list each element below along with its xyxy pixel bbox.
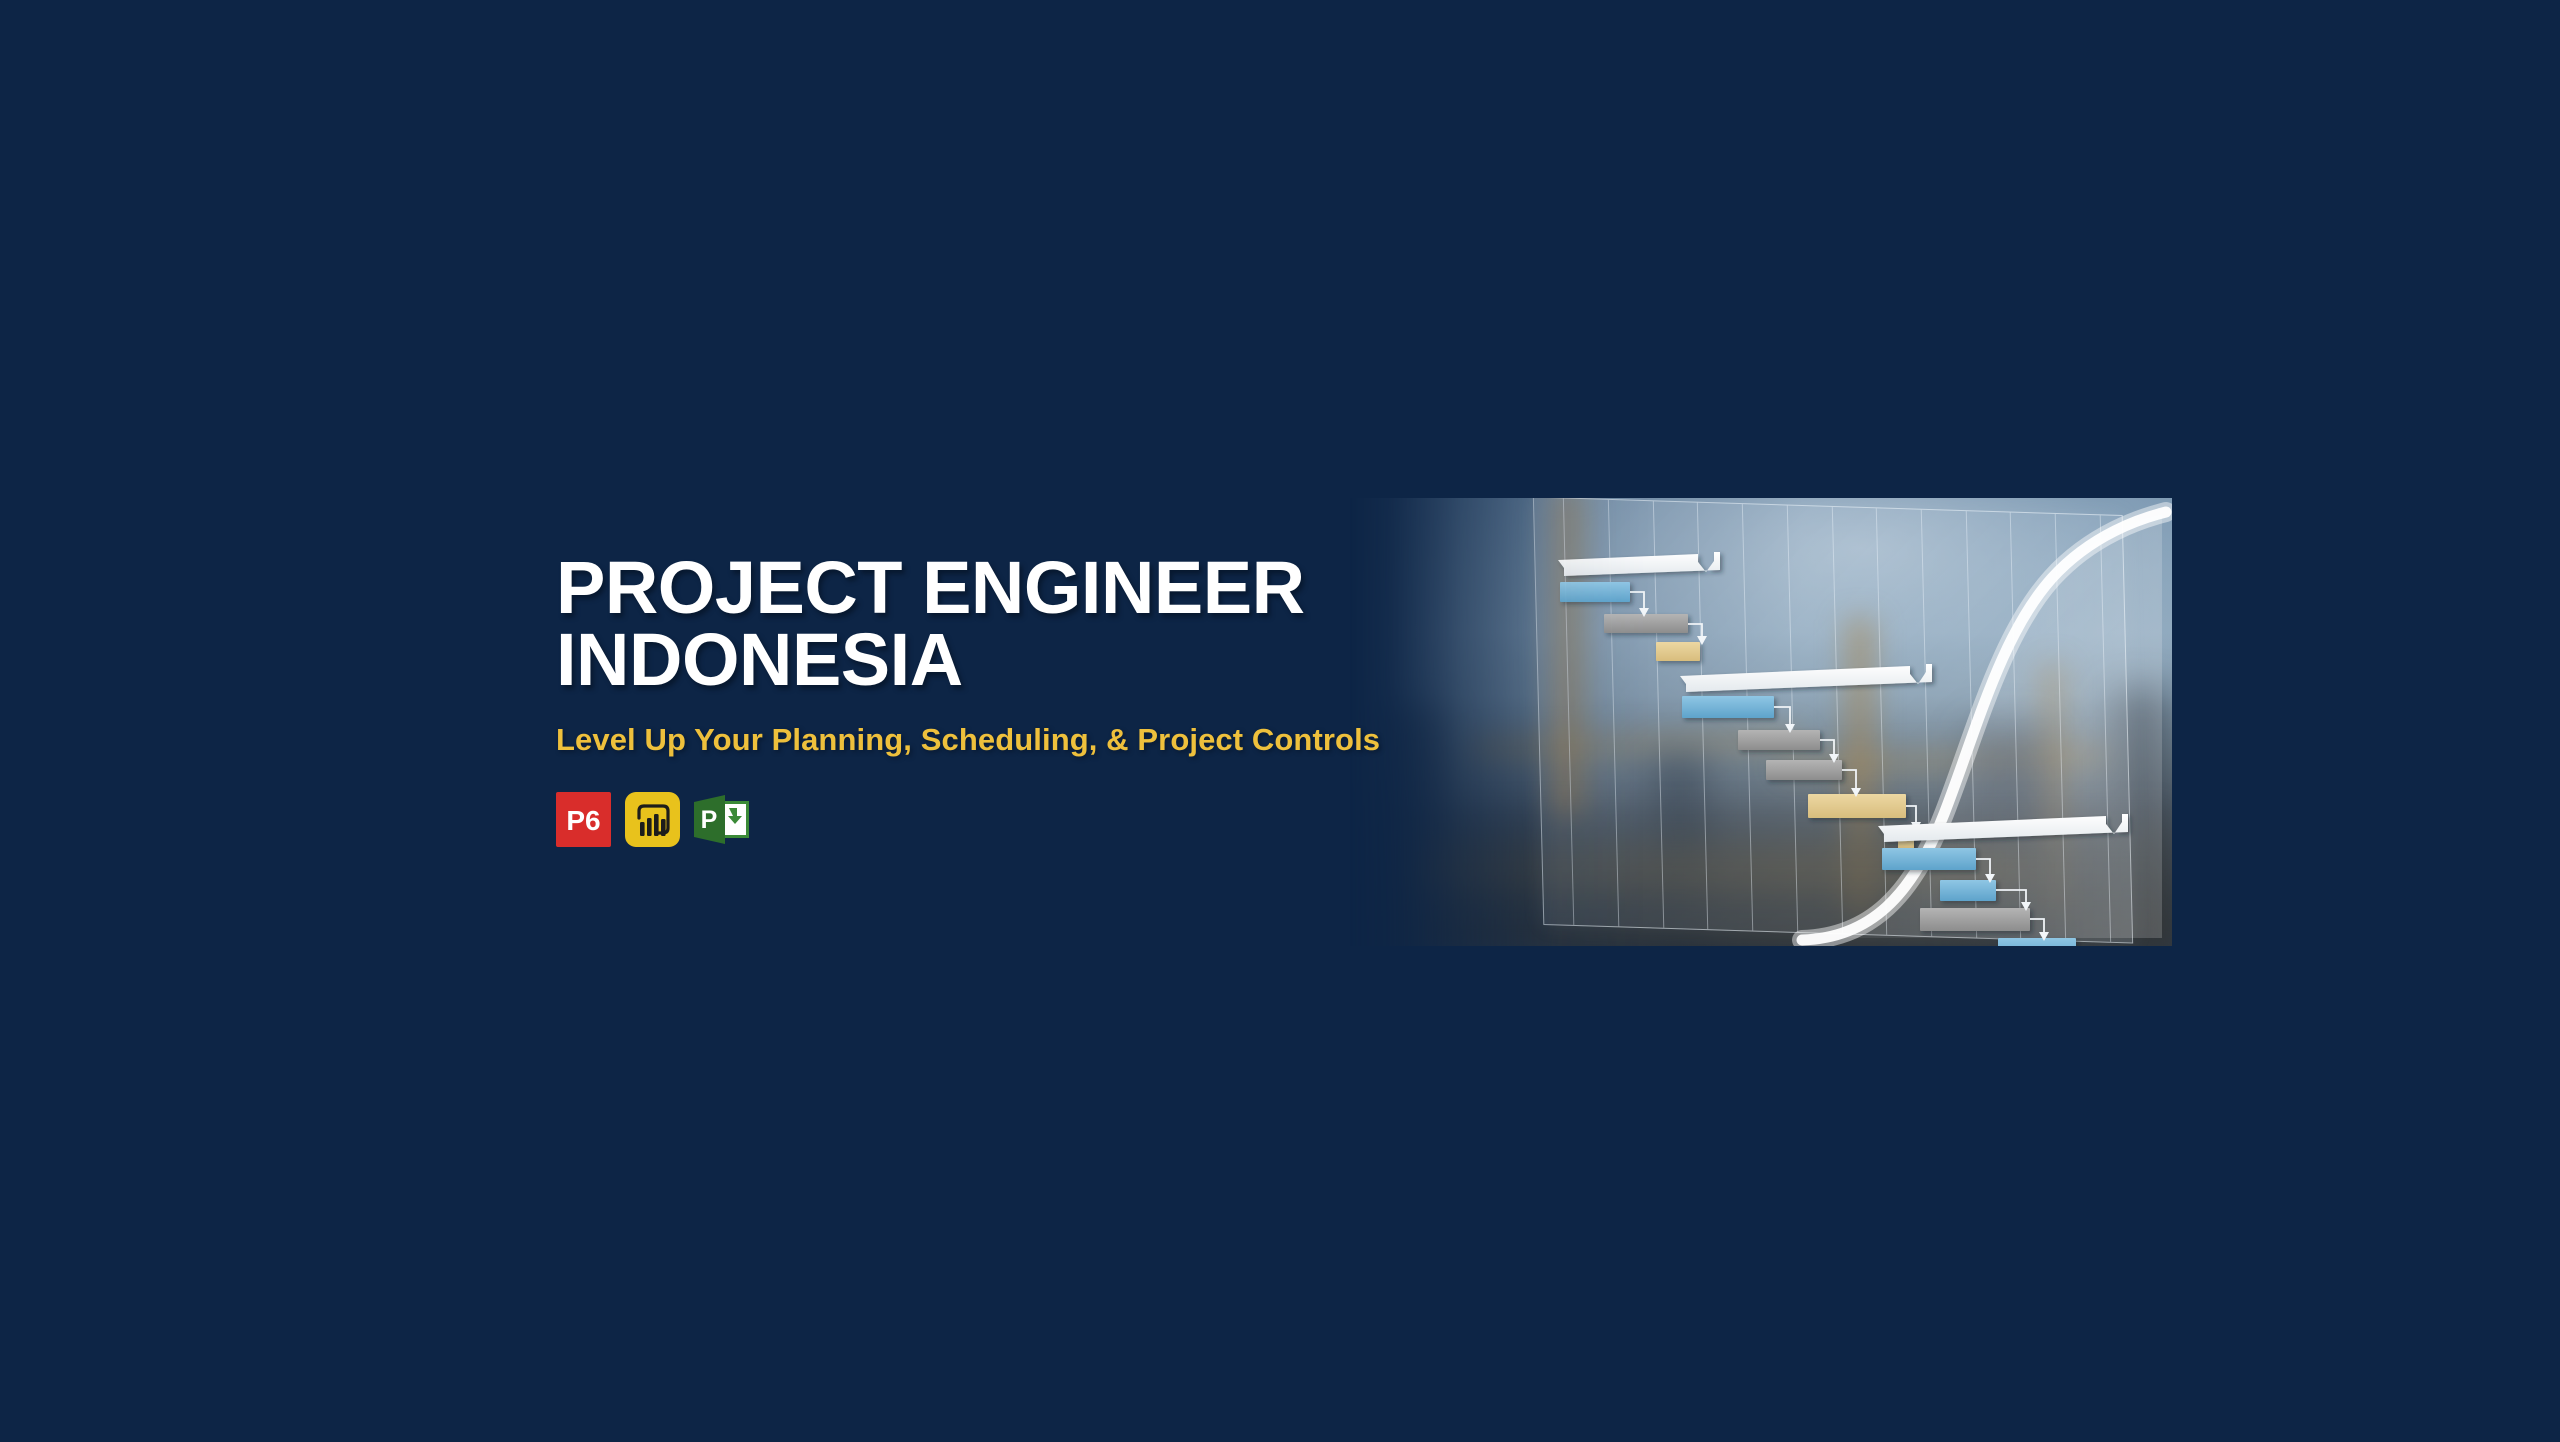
- microsoft-project-icon-label: P: [701, 806, 718, 834]
- microsoft-project-icon[interactable]: Microsoft Project P: [694, 792, 749, 847]
- power-bi-icon[interactable]: Microsoft Power BI: [625, 792, 680, 847]
- glass-chart-panel: [1533, 498, 2133, 944]
- subtitle-tagline: Level Up Your Planning, Scheduling, & Pr…: [556, 722, 1456, 758]
- primavera-p6-icon-label: P6: [566, 805, 600, 836]
- primavera-p6-icon[interactable]: Primavera P6 P6: [556, 792, 611, 847]
- banner-root: PROJECT ENGINEER INDONESIA Level Up Your…: [0, 0, 2560, 1442]
- text-block: PROJECT ENGINEER INDONESIA Level Up Your…: [556, 552, 1456, 847]
- hero-visual: [1350, 498, 2172, 946]
- page-title: PROJECT ENGINEER INDONESIA: [556, 552, 1456, 696]
- tool-icon-row: Primavera P6 P6 Microsoft Power BI: [556, 792, 1456, 847]
